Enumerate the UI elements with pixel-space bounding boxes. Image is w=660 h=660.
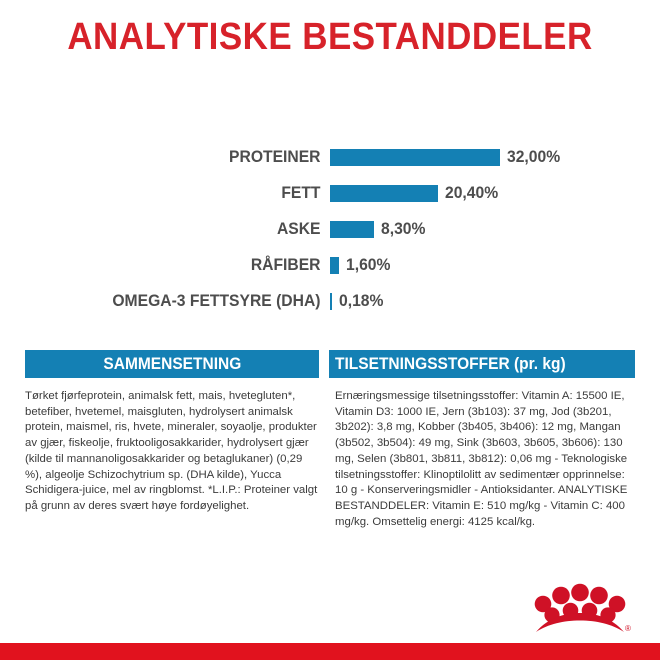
sections-area: SAMMENSETNING TILSETNINGSSTOFFER (pr. kg… [0, 350, 660, 531]
crown-icon: ® [526, 583, 634, 635]
bar-value: 32,00% [507, 148, 560, 167]
composition-text: Tørket fjørfeprotein, animalsk fett, mai… [25, 389, 319, 531]
registered-trademark-mark: ® [625, 624, 631, 633]
page-title: ANALYTISKE BESTANDDELER [26, 18, 633, 58]
bar-label: RÅFIBER [17, 256, 331, 275]
section-heading-composition: SAMMENSETNING [25, 350, 319, 378]
chart-row: RÅFIBER 1,60% [0, 248, 660, 282]
bar-fill [330, 221, 374, 238]
bar-value: 8,30% [381, 220, 425, 239]
bar-fill [330, 293, 332, 310]
bar-track: 1,60% [330, 256, 660, 275]
section-headings-row: SAMMENSETNING TILSETNINGSSTOFFER (pr. kg… [0, 350, 660, 378]
bottom-red-bar [0, 643, 660, 660]
bar-fill [330, 257, 339, 274]
bar-fill [330, 185, 438, 202]
chart-row: PROTEINER 32,00% [0, 140, 660, 174]
royal-canin-crown-logo: ® [526, 583, 634, 635]
bar-value: 1,60% [346, 256, 390, 275]
bar-label: ASKE [17, 220, 331, 239]
chart-row: ASKE 8,30% [0, 212, 660, 246]
bar-track: 20,40% [330, 184, 660, 203]
analytical-constituents-chart: PROTEINER 32,00% FETT 20,40% ASKE 8,30% … [0, 140, 660, 320]
section-bodies-row: Tørket fjørfeprotein, animalsk fett, mai… [0, 378, 660, 531]
bar-track: 32,00% [330, 148, 660, 167]
bar-label: FETT [17, 184, 331, 203]
bar-label: PROTEINER [17, 148, 331, 167]
bar-fill [330, 149, 500, 166]
bar-track: 8,30% [330, 220, 660, 239]
additives-text: Ernæringsmessige tilsetningsstoffer: Vit… [329, 389, 635, 531]
chart-row: OMEGA-3 FETTSYRE (DHA) 0,18% [0, 284, 660, 318]
bar-track: 0,18% [330, 292, 660, 311]
bar-value: 0,18% [339, 292, 383, 311]
bar-label: OMEGA-3 FETTSYRE (DHA) [17, 292, 331, 311]
bar-value: 20,40% [445, 184, 498, 203]
section-heading-additives-label: TILSETNINGSSTOFFER (pr. kg) [335, 350, 566, 378]
chart-row: FETT 20,40% [0, 176, 660, 210]
section-heading-additives: TILSETNINGSSTOFFER (pr. kg) [329, 350, 635, 378]
section-heading-composition-label: SAMMENSETNING [103, 350, 241, 378]
